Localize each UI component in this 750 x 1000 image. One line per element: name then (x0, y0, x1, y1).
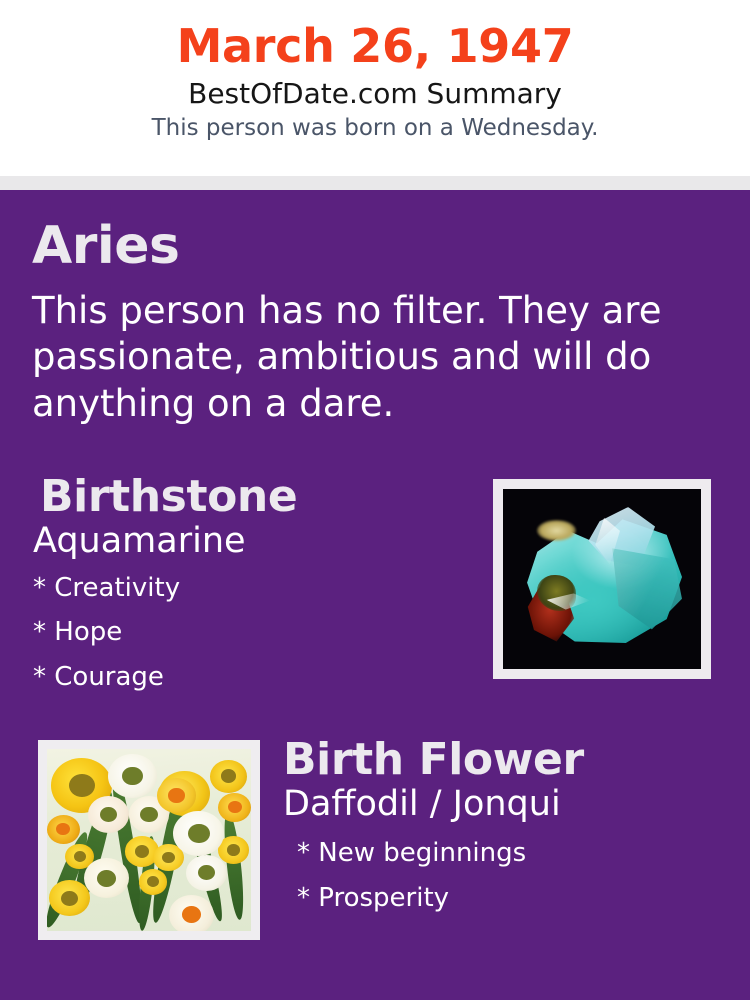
page-title-date: March 26, 1947 (0, 0, 750, 72)
zodiac-sign-title: Aries (32, 220, 692, 272)
daffodil-flowers-image (47, 749, 251, 931)
birth-flower-name: Daffodil / Jonqui (283, 783, 703, 824)
zodiac-section: Aries This person has no filter. They ar… (32, 220, 692, 427)
list-item: * Courage (33, 655, 463, 700)
list-item: * New beginnings (297, 831, 703, 876)
birthstone-image-frame (493, 479, 711, 679)
birth-flower-image-frame (38, 740, 260, 940)
flower-bloom (173, 811, 224, 857)
birth-flower-trait-list: * New beginnings * Prosperity (283, 823, 703, 920)
flower-bloom (218, 836, 249, 863)
flower-bloom (186, 855, 227, 891)
flower-bloom (47, 815, 80, 844)
flower-bloom (157, 778, 196, 813)
list-item: * Creativity (33, 566, 463, 611)
header: March 26, 1947 BestOfDate.com Summary Th… (0, 0, 750, 176)
birthstone-trait-list: * Creativity * Hope * Courage (33, 560, 463, 700)
flower-bloom (88, 796, 129, 832)
flower-bloom (84, 858, 129, 898)
birth-flower-section: Birth Flower Daffodil / Jonqui * New beg… (283, 738, 703, 921)
flower-bloom (210, 760, 247, 793)
birthstone-name: Aquamarine (33, 520, 463, 560)
flower-bloom (49, 880, 90, 916)
birth-flower-heading: Birth Flower (283, 738, 703, 783)
summary-panel: Aries This person has no filter. They ar… (0, 190, 750, 1000)
birth-day-note: This person was born on a Wednesday. (0, 110, 750, 141)
crystal-gold-inclusion (537, 520, 577, 542)
list-item: * Hope (33, 610, 463, 655)
list-item: * Prosperity (297, 876, 703, 921)
aquamarine-crystal-image (503, 489, 701, 669)
birthstone-section: Birthstone Aquamarine * Creativity * Hop… (33, 475, 463, 700)
birthstone-heading: Birthstone (33, 475, 463, 520)
zodiac-description: This person has no filter. They are pass… (32, 272, 662, 427)
flower-bloom (139, 869, 168, 894)
flower-bloom (108, 754, 157, 798)
flower-bloom (218, 793, 251, 822)
flower-bloom (169, 895, 214, 931)
site-name: BestOfDate.com Summary (0, 72, 750, 110)
header-divider (0, 176, 750, 190)
